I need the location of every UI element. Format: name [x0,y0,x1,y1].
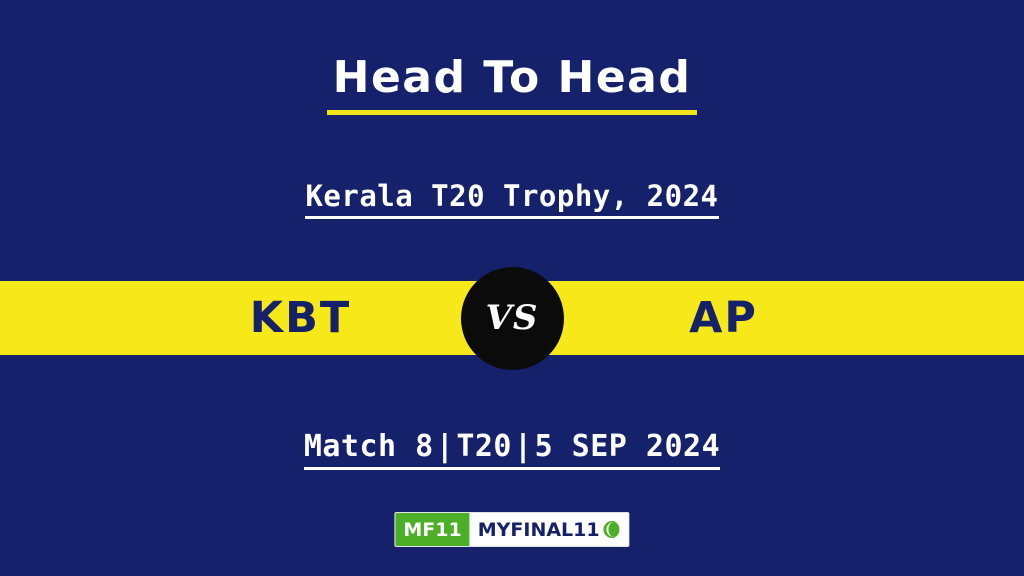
cricket-ball-icon [604,521,621,538]
tournament-name: Kerala T20 Trophy, 2024 [305,178,718,219]
vs-label: VS [486,298,539,338]
logo-badge-text: MF11 [395,513,469,546]
tournament-subtitle-container: Kerala T20 Trophy, 2024 [0,178,1024,219]
head-to-head-banner: Head To Head Kerala T20 Trophy, 2024 KBT… [0,0,1024,576]
vs-badge: VS [461,267,564,370]
match-info-separator-1: | [434,429,457,464]
match-format: T20 [456,429,512,464]
match-date: 5 SEP 2024 [535,429,721,464]
teams-row: KBT VS AP [0,281,1024,355]
page-title: Head To Head [327,52,698,115]
team-right-abbr: AP [564,293,884,343]
page-title-container: Head To Head [0,52,1024,115]
match-info-separator-2: | [512,429,535,464]
match-info: Match 8|T20|5 SEP 2024 [304,428,720,470]
myfinal11-logo: MF11 MYFINAL11 [394,512,629,547]
team-left-abbr: KBT [141,293,461,343]
match-number: Match 8 [304,429,434,464]
match-info-container: Match 8|T20|5 SEP 2024 [0,428,1024,470]
logo-wordmark: MYFINAL11 [470,513,604,546]
